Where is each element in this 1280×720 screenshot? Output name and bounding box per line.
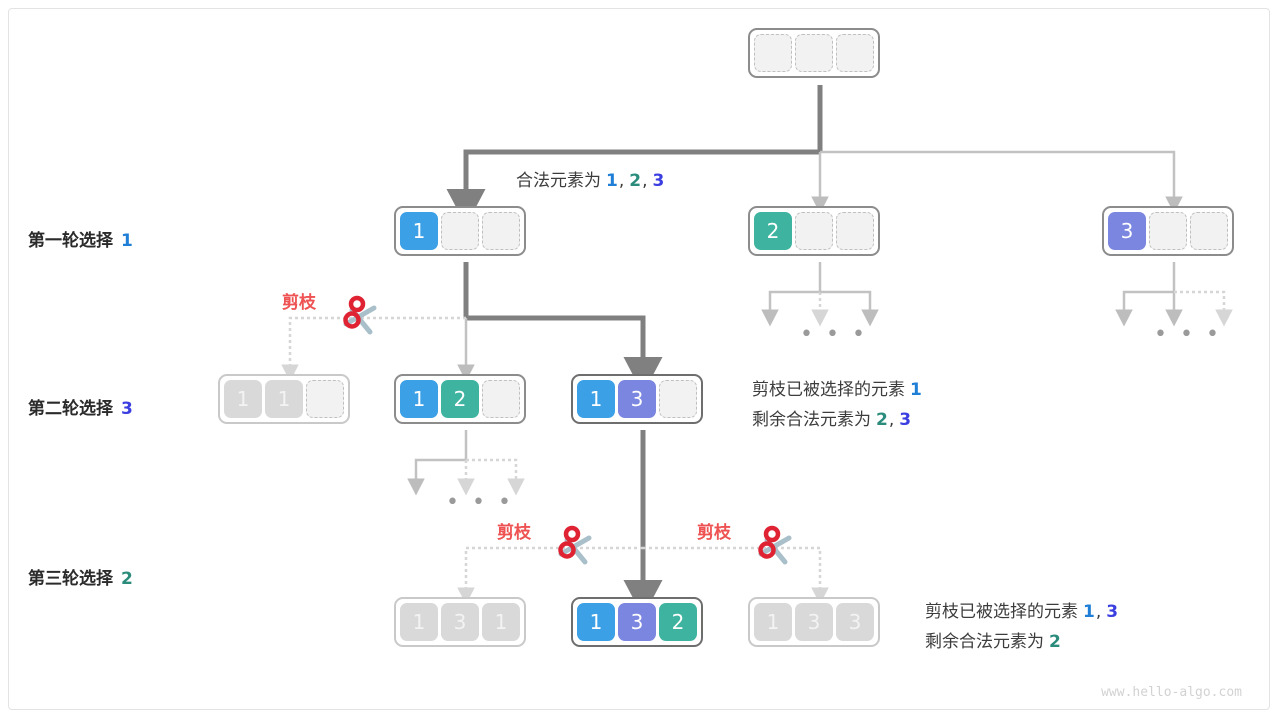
note-row2-line1: 剪枝已被选择的元素1: [752, 375, 922, 405]
edge-n1-to-n13: [466, 318, 643, 373]
edge-n12-c1: [416, 460, 466, 487]
node-r2-11: 1 1: [218, 374, 350, 424]
note-row2-line2: 剩余合法元素为2,3: [752, 405, 911, 435]
cell-root-1: [795, 34, 833, 72]
ellipsis-under-n12: • • •: [446, 490, 514, 515]
cell-r3-133-1: 3: [795, 603, 833, 641]
scissors-icon-row2: [330, 290, 382, 342]
prune-label-row3-right: 剪枝: [697, 518, 731, 543]
cell-r1-3-1: [1149, 212, 1187, 250]
cell-r2-11-0: 1: [224, 380, 262, 418]
cell-r2-13-0: 1: [577, 380, 615, 418]
cell-r1-3-0: 3: [1108, 212, 1146, 250]
round-label-2-text: 第二轮选择: [28, 399, 113, 419]
cell-root-0: [754, 34, 792, 72]
cell-r3-131-0: 1: [400, 603, 438, 641]
note-legal-top-text: 合法元素为: [516, 171, 601, 191]
note-legal-top-sep0: ,: [619, 171, 624, 191]
round-label-1-value: 1: [121, 231, 133, 251]
node-r3-131: 1 3 1: [394, 597, 526, 647]
note-row2-line2-sep0: ,: [889, 410, 894, 430]
node-r2-13: 1 3: [571, 374, 703, 424]
edge-root-to-n3: [820, 152, 1174, 205]
note-row3-line1-text: 剪枝已被选择的元素: [925, 602, 1078, 622]
node-r3-132: 1 3 2: [571, 597, 703, 647]
node-r2-12: 1 2: [394, 374, 526, 424]
note-legal-top: 合法元素为1,2,3: [516, 166, 664, 196]
edge-n3-c1: [1124, 292, 1174, 318]
cell-r3-131-1: 3: [441, 603, 479, 641]
cell-r1-1-1: [441, 212, 479, 250]
node-root: [748, 28, 880, 78]
round-label-2: 第二轮选择3: [28, 394, 133, 419]
cell-r3-132-1: 3: [618, 603, 656, 641]
cell-r1-3-2: [1190, 212, 1228, 250]
cell-r3-131-2: 1: [482, 603, 520, 641]
note-legal-top-v1: 2: [629, 171, 641, 191]
note-row2-line1-text: 剪枝已被选择的元素: [752, 380, 905, 400]
round-label-3-value: 2: [121, 569, 133, 589]
cell-r1-2-1: [795, 212, 833, 250]
edge-n3-c3: [1174, 292, 1224, 318]
note-row3-line2-v0: 2: [1049, 632, 1061, 652]
cell-r3-133-2: 3: [836, 603, 874, 641]
note-row3-line1-v1: 3: [1106, 602, 1118, 622]
note-row2-line2-v0: 2: [876, 410, 888, 430]
note-legal-top-v0: 1: [606, 171, 618, 191]
cell-r2-13-1: 3: [618, 380, 656, 418]
ellipsis-under-n2: • • •: [800, 322, 868, 347]
prune-label-row3-left: 剪枝: [497, 518, 531, 543]
cell-r3-132-2: 2: [659, 603, 697, 641]
cell-r2-11-1: 1: [265, 380, 303, 418]
diagram-canvas: 剪枝 剪枝 剪枝 第一轮选择1 第二轮选择3 第三轮选择2 1 2 3 1 1 …: [0, 0, 1280, 720]
cell-r3-132-0: 1: [577, 603, 615, 641]
node-r3-133: 1 3 3: [748, 597, 880, 647]
note-row2-line2-text: 剩余合法元素为: [752, 410, 871, 430]
edge-n2-c1: [770, 292, 820, 318]
cell-r1-1-2: [482, 212, 520, 250]
node-r1-3: 3: [1102, 206, 1234, 256]
note-row3-line2: 剩余合法元素为2: [925, 627, 1061, 657]
node-r1-1: 1: [394, 206, 526, 256]
round-label-3-text: 第三轮选择: [28, 569, 113, 589]
cell-r2-12-2: [482, 380, 520, 418]
scissors-icon-row3-right: [745, 520, 797, 572]
cell-r1-2-0: 2: [754, 212, 792, 250]
round-label-2-value: 3: [121, 399, 133, 419]
note-row3-line2-text: 剩余合法元素为: [925, 632, 1044, 652]
round-label-1-text: 第一轮选择: [28, 231, 113, 251]
round-label-3: 第三轮选择2: [28, 564, 133, 589]
note-row3-line1: 剪枝已被选择的元素1,3: [925, 597, 1118, 627]
cell-r1-2-2: [836, 212, 874, 250]
cell-r2-12-0: 1: [400, 380, 438, 418]
cell-r1-1-0: 1: [400, 212, 438, 250]
node-r1-2: 2: [748, 206, 880, 256]
cell-r2-11-2: [306, 380, 344, 418]
cell-r3-133-0: 1: [754, 603, 792, 641]
ellipsis-under-n3: • • •: [1154, 322, 1222, 347]
edge-n2-c3: [820, 292, 870, 318]
scissors-icon-row3-left: [545, 520, 597, 572]
note-legal-top-sep1: ,: [642, 171, 647, 191]
note-legal-top-v2: 3: [653, 171, 665, 191]
note-row2-line1-v0: 1: [910, 380, 922, 400]
cell-r2-13-2: [659, 380, 697, 418]
cell-r2-12-1: 2: [441, 380, 479, 418]
round-label-1: 第一轮选择1: [28, 226, 133, 251]
note-row2-line2-v1: 3: [899, 410, 911, 430]
cell-root-2: [836, 34, 874, 72]
edge-n12-c3: [466, 460, 516, 487]
note-row3-line1-sep0: ,: [1096, 602, 1101, 622]
note-row3-line1-v0: 1: [1083, 602, 1095, 622]
prune-label-row2: 剪枝: [282, 288, 316, 313]
watermark: www.hello-algo.com: [1101, 685, 1242, 700]
